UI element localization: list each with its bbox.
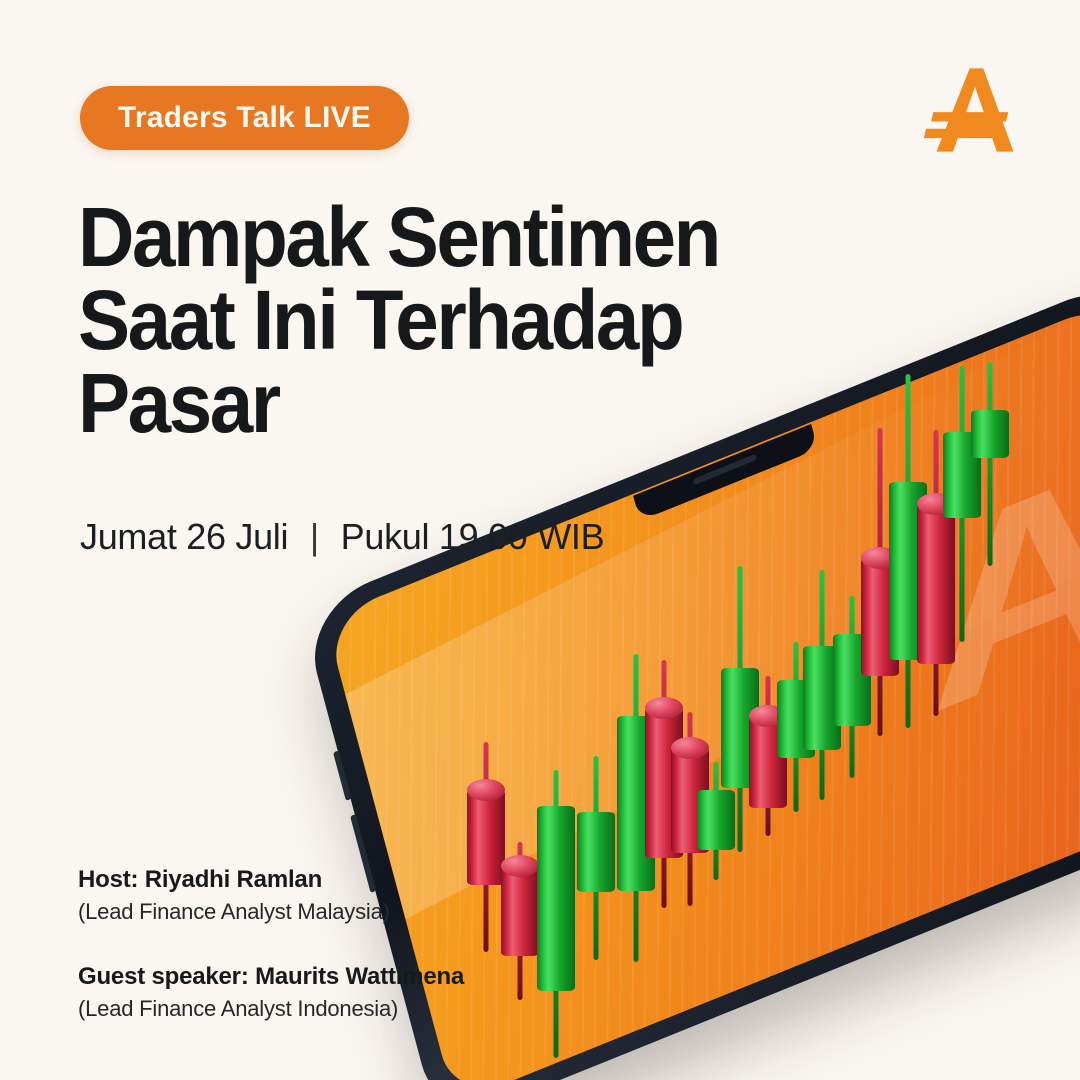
title-line-3: Pasar (78, 362, 748, 445)
credits-block: Host: Riyadhi Ramlan (Lead Finance Analy… (78, 866, 548, 1022)
live-badge-label: Traders Talk LIVE (118, 101, 371, 135)
guest-credit: Guest speaker: Maurits Wattimena (Lead F… (78, 963, 548, 1022)
guest-role: (Lead Finance Analyst Indonesia) (78, 996, 548, 1022)
page-title: Dampak Sentimen Saat Ini Terhadap Pasar (78, 196, 748, 445)
host-credit: Host: Riyadhi Ramlan (Lead Finance Analy… (78, 866, 548, 925)
schedule-date: Jumat 26 Juli (80, 516, 288, 557)
guest-name: Guest speaker: Maurits Wattimena (78, 963, 548, 991)
schedule-line: Jumat 26 Juli | Pukul 19.00 WIB (80, 516, 604, 558)
title-line-1: Dampak Sentimen (78, 196, 748, 279)
title-line-2: Saat Ini Terhadap (78, 279, 748, 362)
schedule-time: Pukul 19.00 WIB (341, 516, 605, 557)
host-role: (Lead Finance Analyst Malaysia) (78, 899, 548, 925)
live-badge: Traders Talk LIVE (80, 86, 409, 150)
promo-graphic: A Traders Talk LIVE Dampak Sentimen Saat… (0, 0, 1080, 1080)
content-layer: Traders Talk LIVE Dampak Sentimen Saat I… (0, 0, 1080, 1080)
host-name: Host: Riyadhi Ramlan (78, 866, 548, 894)
logo-a-currency-icon (924, 58, 1028, 162)
schedule-separator: | (310, 516, 319, 558)
